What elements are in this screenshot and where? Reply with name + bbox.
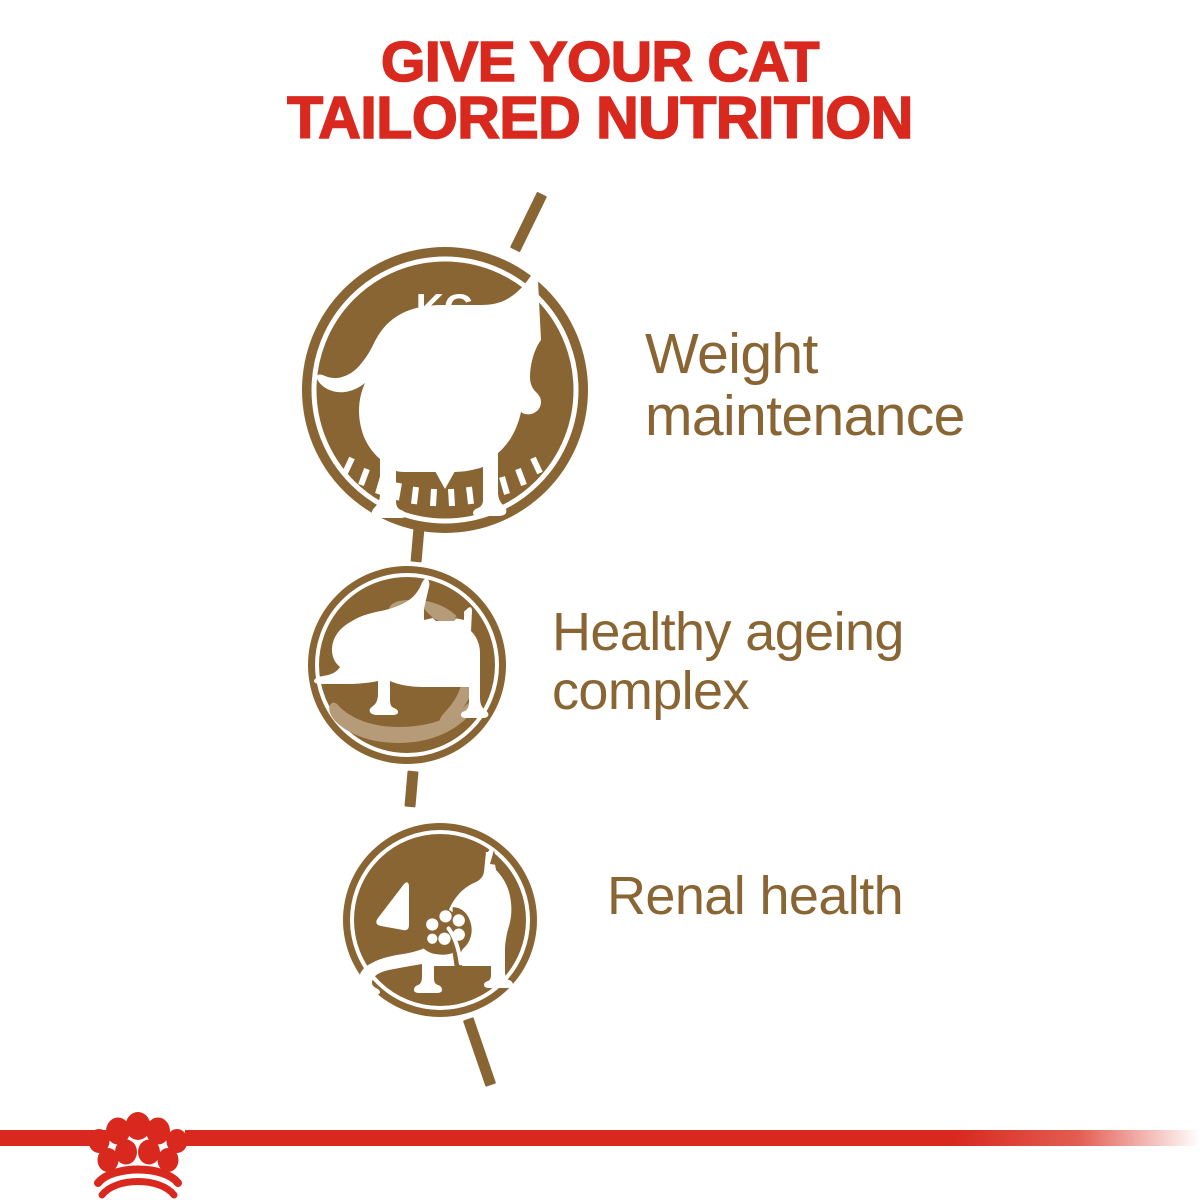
sitting-cat-kidney-icon xyxy=(343,823,537,1017)
benefit-icon-healthy-ageing xyxy=(307,565,507,765)
royal-canin-crown-logo xyxy=(84,1109,192,1200)
connector-dash-2 xyxy=(404,771,418,808)
benefit-label-weight-maintenance: Weight maintenance xyxy=(645,323,965,447)
connector-dash-bottom xyxy=(463,1017,496,1087)
benefit-label-renal-health: Renal health xyxy=(607,867,903,926)
footer xyxy=(0,1109,1200,1200)
page-title: GIVE YOUR CAT TAILORED NUTRITION xyxy=(0,34,1200,146)
benefit-icon-weight-maintenance: KG xyxy=(300,245,590,535)
headline-line-2: TAILORED NUTRITION xyxy=(0,90,1200,146)
connector-dash-top xyxy=(510,192,547,253)
benefit-icon-renal-health xyxy=(342,822,538,1018)
cat-on-weighing-scale-icon: KG xyxy=(302,247,588,533)
benefit-label-healthy-ageing: Healthy ageing complex xyxy=(552,603,904,721)
footer-rule-right xyxy=(185,1130,1200,1146)
poster-canvas: GIVE YOUR CAT TAILORED NUTRITION KG xyxy=(0,0,1200,1200)
headline-line-1: GIVE YOUR CAT xyxy=(0,34,1200,90)
reclining-cat-icon xyxy=(308,566,506,764)
